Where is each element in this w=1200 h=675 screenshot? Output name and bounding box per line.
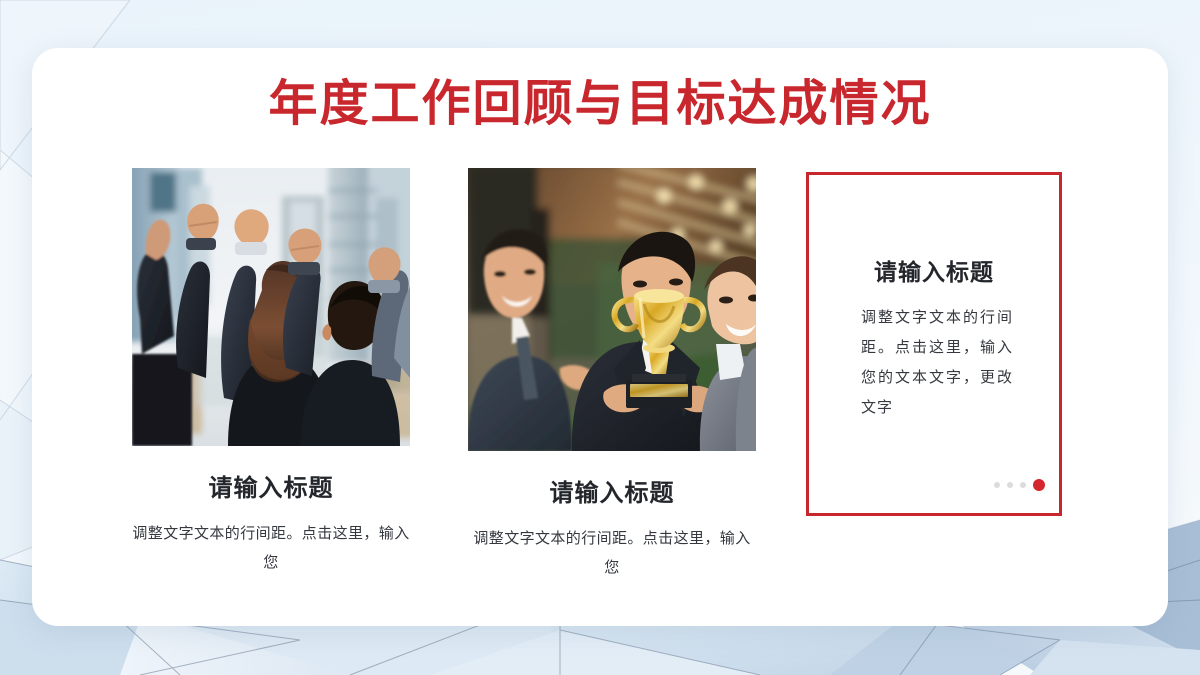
column-1-body: 调整文字文本的行间距。点击这里，输入您: [132, 519, 410, 578]
team-raised-fists-photo: [132, 168, 410, 446]
pagination-dot-4-active[interactable]: [1033, 479, 1045, 491]
content-column-1: 请输入标题 调整文字文本的行间距。点击这里，输入您: [132, 168, 410, 578]
presentation-slide: 年度工作回顾与目标达成情况: [0, 0, 1200, 675]
panel-body: 调整文字文本的行间距。点击这里，输入您的文本文字，更改文字: [861, 303, 1013, 423]
pagination-dot-2[interactable]: [1007, 482, 1013, 488]
slide-content-card: 年度工作回顾与目标达成情况: [32, 48, 1168, 626]
column-2-body: 调整文字文本的行间距。点击这里，输入您: [468, 524, 756, 583]
text-panel: 请输入标题 调整文字文本的行间距。点击这里，输入您的文本文字，更改文字: [806, 172, 1062, 516]
pagination-dot-1[interactable]: [994, 482, 1000, 488]
panel-heading: 请输入标题: [809, 253, 1059, 287]
pagination-dot-3[interactable]: [1020, 482, 1026, 488]
pagination-dots[interactable]: [994, 479, 1045, 491]
content-column-2: 请输入标题 调整文字文本的行间距。点击这里，输入您: [468, 168, 756, 583]
column-1-heading: 请输入标题: [132, 468, 410, 503]
team-trophy-photo: [468, 168, 756, 451]
page-title: 年度工作回顾与目标达成情况: [32, 64, 1168, 135]
column-2-heading: 请输入标题: [468, 473, 756, 508]
